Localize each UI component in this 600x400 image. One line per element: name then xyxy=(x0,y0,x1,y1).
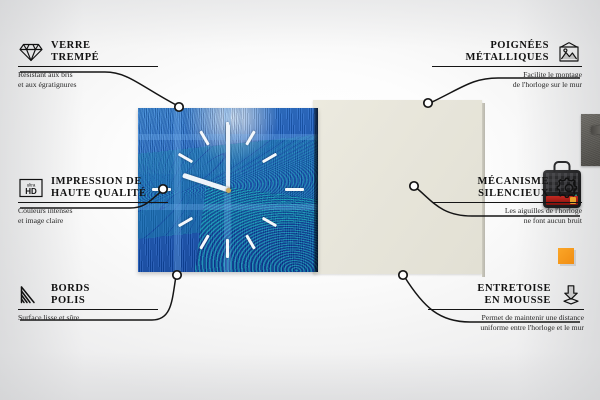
callout-title: ENTRETOISE EN MOUSSE xyxy=(477,283,551,306)
clock-face-pattern-bottomright xyxy=(193,184,318,272)
mechanism-hanger-loop xyxy=(554,161,571,172)
callout-desc-line1: Couleurs intenses xyxy=(18,206,168,215)
callout-desc-line1: Facilite le montage xyxy=(432,70,582,79)
callout-divider xyxy=(432,66,582,67)
foam-spacer xyxy=(558,248,574,264)
callout-desc-line2: et image claire xyxy=(18,216,168,225)
callout-header: BORDS POLIS xyxy=(18,283,158,306)
callout-desc-line1: Surface lisse et sûre xyxy=(18,313,158,322)
callout-desc-line2: de l'horloge sur le mur xyxy=(432,80,582,89)
callout-title: IMPRESSION DE HAUTE QUALITÉ xyxy=(51,176,147,199)
infographic-stage: VERRE TREMPÉ Résistant aux bris et aux é… xyxy=(0,0,600,400)
hour-tick xyxy=(226,239,229,258)
metal-hanger-bracket xyxy=(591,126,600,134)
callout-divider xyxy=(18,309,158,310)
down-arrow-pad-icon xyxy=(558,284,584,306)
callout-title: VERRE TREMPÉ xyxy=(51,40,99,63)
callout-divider xyxy=(428,309,584,310)
callout-desc-line1: Les aiguilles de l'horloge xyxy=(432,206,582,215)
callout-desc-line2: uniforme entre l'horloge et le mur xyxy=(428,323,584,332)
minute-hand xyxy=(226,124,230,190)
callout-desc-line2: et aux égratignures xyxy=(18,80,158,89)
svg-text:HD: HD xyxy=(25,187,37,196)
callout-poignees-metalliques: POIGNÉES MÉTALLIQUES Facilite le montage… xyxy=(432,40,582,89)
callout-header: ultra HD IMPRESSION DE HAUTE QUALITÉ xyxy=(18,176,168,199)
hanging-frame-icon xyxy=(556,41,582,63)
polished-edge-icon xyxy=(18,284,44,306)
product-image xyxy=(138,98,482,276)
ultra-hd-icon: ultra HD xyxy=(18,177,44,199)
callout-header: ENTRETOISE EN MOUSSE xyxy=(428,283,584,306)
callout-desc-line2: ne font aucun bruit xyxy=(432,216,582,225)
callout-title: BORDS POLIS xyxy=(51,283,90,306)
callout-mecanisme-silencieux: MÉCANISME SILENCIEUX Les aiguilles de l'… xyxy=(432,176,582,225)
callout-title: POIGNÉES MÉTALLIQUES xyxy=(466,40,549,63)
callout-header: VERRE TREMPÉ xyxy=(18,40,158,63)
hour-tick xyxy=(285,188,304,191)
callout-header: MÉCANISME SILENCIEUX xyxy=(432,176,582,199)
callout-header: POIGNÉES MÉTALLIQUES xyxy=(432,40,582,63)
gear-icon xyxy=(556,177,582,199)
callout-title: MÉCANISME SILENCIEUX xyxy=(478,176,549,199)
callout-verre-trempe: VERRE TREMPÉ Résistant aux bris et aux é… xyxy=(18,40,158,89)
callout-desc-line1: Résistant aux bris xyxy=(18,70,158,79)
callout-desc-line1: Permet de maintenir une distance xyxy=(428,313,584,322)
clock-face-grid-line xyxy=(174,108,181,272)
diamond-icon xyxy=(18,41,44,63)
callout-bords-polis: BORDS POLIS Surface lisse et sûre xyxy=(18,283,158,323)
metal-hanger-closeup xyxy=(581,114,600,166)
clock-center-pin xyxy=(226,188,231,193)
callout-divider xyxy=(18,202,168,203)
callout-divider xyxy=(18,66,158,67)
callout-entretoise-en-mousse: ENTRETOISE EN MOUSSE Permet de maintenir… xyxy=(428,283,584,332)
callout-divider xyxy=(432,202,582,203)
callout-impression-haute-qualite: ultra HD IMPRESSION DE HAUTE QUALITÉ Cou… xyxy=(18,176,168,225)
